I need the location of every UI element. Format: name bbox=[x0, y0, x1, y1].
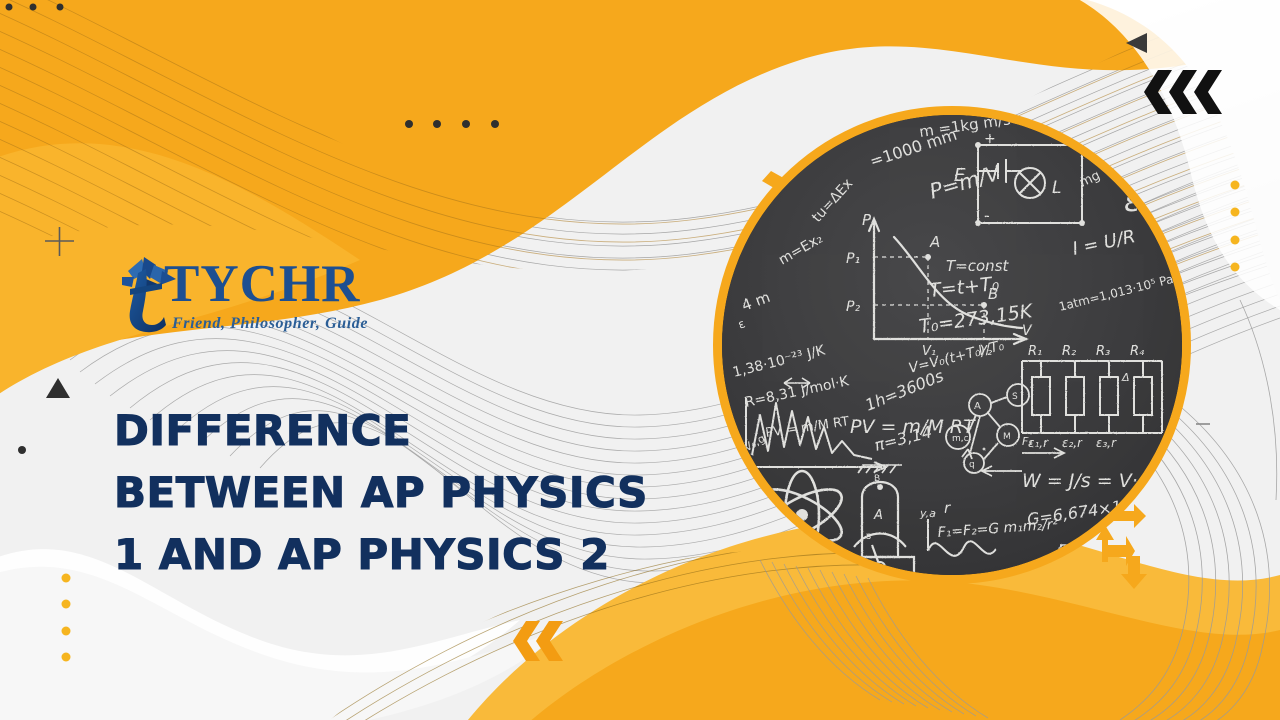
svg-text:A: A bbox=[873, 508, 883, 523]
svg-text:s: s bbox=[866, 531, 871, 542]
svg-text:R₁: R₁ bbox=[1028, 344, 1042, 359]
svg-text:r: r bbox=[944, 499, 951, 517]
logo-wordmark: TYCHR bbox=[164, 258, 360, 311]
page-title-line-1: DIFFERENCE bbox=[114, 400, 724, 462]
svg-text:m,c: m,c bbox=[952, 434, 969, 444]
svg-text:y,a: y,a bbox=[919, 507, 936, 520]
dot-row-top bbox=[405, 120, 499, 128]
chevron-triple-black bbox=[1144, 70, 1222, 114]
svg-text:R₄: R₄ bbox=[1130, 344, 1145, 359]
orange-wave-top-right bbox=[1190, 0, 1280, 120]
triangle-left-small bbox=[1126, 33, 1147, 53]
dot-pair-top-left bbox=[6, 4, 64, 11]
svg-text:V: V bbox=[1022, 323, 1033, 339]
svg-text:+: + bbox=[984, 131, 996, 147]
hero-image-circle: m =1kg m/s² =1000 mm P=m/V mg ε tu=ΔEx m… bbox=[713, 106, 1191, 584]
logo-tagline: Friend, Philosopher, Guide bbox=[172, 315, 368, 333]
svg-text:ε₂,r: ε₂,r bbox=[1062, 436, 1083, 450]
svg-text:R₂: R₂ bbox=[1062, 344, 1076, 359]
triangle-up-left bbox=[46, 378, 70, 398]
plus-mark-left bbox=[45, 227, 74, 256]
svg-text:Δ: Δ bbox=[1121, 371, 1130, 384]
dot-column-right bbox=[1231, 181, 1240, 272]
page-title-line-2: BETWEEN AP PHYSICS bbox=[114, 462, 724, 524]
chalkboard-illustration: m =1kg m/s² =1000 mm P=m/V mg ε tu=ΔEx m… bbox=[722, 115, 1182, 575]
dot-left-edge bbox=[18, 446, 26, 454]
svg-text:ε: ε bbox=[1124, 184, 1140, 219]
svg-text:B: B bbox=[874, 474, 880, 484]
brand-logo[interactable]: TYCHR Friend, Philosopher, Guide bbox=[116, 255, 386, 350]
page-title: DIFFERENCE BETWEEN AP PHYSICS 1 AND AP P… bbox=[114, 400, 724, 585]
svg-text:A: A bbox=[929, 233, 940, 251]
dot-column-bottom-left bbox=[62, 574, 71, 662]
svg-text:R₃: R₃ bbox=[1096, 344, 1110, 359]
svg-text:W = J/s = V·A: W = J/s = V·A bbox=[1022, 470, 1151, 492]
svg-text:A: A bbox=[974, 401, 981, 412]
svg-text:T=const: T=const bbox=[946, 257, 1009, 275]
page-title-line-3: 1 AND AP PHYSICS 2 bbox=[114, 524, 724, 586]
svg-text:S: S bbox=[1012, 392, 1018, 402]
banner-canvas: m =1kg m/s² =1000 mm P=m/V mg ε tu=ΔEx m… bbox=[0, 0, 1280, 720]
chevron-double-orange bbox=[513, 621, 563, 661]
svg-text:q: q bbox=[969, 460, 975, 470]
svg-text:P: P bbox=[862, 211, 872, 229]
svg-text:M: M bbox=[1003, 432, 1011, 442]
svg-text:L: L bbox=[1052, 178, 1061, 198]
svg-text:F₁: F₁ bbox=[1022, 435, 1033, 448]
svg-text:P₁: P₁ bbox=[846, 251, 860, 267]
svg-text:ε₃,r: ε₃,r bbox=[1096, 436, 1117, 450]
svg-text:E: E bbox=[954, 165, 966, 186]
svg-text:P₂: P₂ bbox=[846, 299, 860, 315]
svg-text:-: - bbox=[984, 206, 990, 225]
